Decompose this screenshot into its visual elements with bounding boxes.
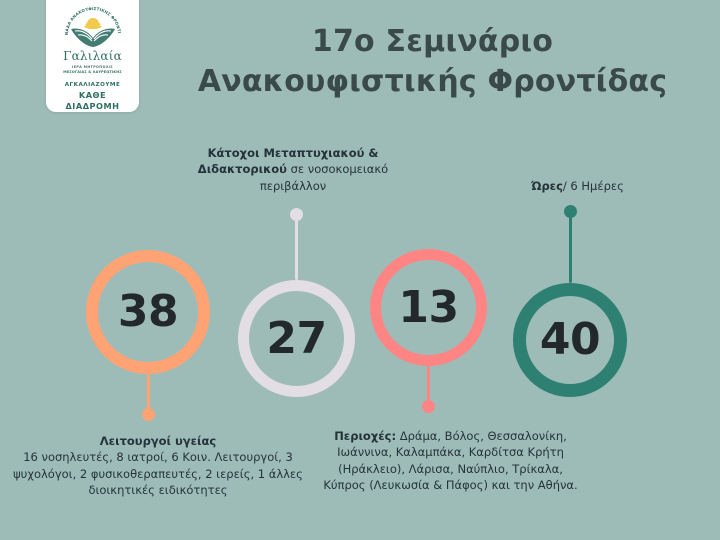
stat-value-regions: 13 [398, 286, 458, 330]
connector-regions [422, 366, 435, 416]
logo-emblem: ΜΟΝΑΔΑ ΑΝΑΚΟΥΦΙΣΤΙΚΗΣ ΦΡΟΝΤΙΔΑΣ [63, 1, 123, 48]
connector-knob [564, 205, 577, 218]
caption-regions: Περιοχές: Δράμα, Βόλος, Θεσσαλονίκη, Ιωά… [318, 428, 583, 493]
caption-masters: Κάτοχοι Μεταπτυχιακού & Διδακτορικού σε … [168, 145, 418, 194]
connector-knob [290, 208, 303, 221]
logo-slogan: ΑΓΚΑΛΙΑΖΟΥΜΕ ΚΑΘΕ ΔΙΑΔΡΟΜΗ [65, 82, 121, 112]
logo-slogan-line-3: ΔΙΑΔΡΟΜΗ [65, 101, 121, 112]
stat-ring-regions: 13 [370, 249, 487, 366]
caption-regions-bold: Περιοχές: [334, 429, 396, 443]
organization-logo: ΜΟΝΑΔΑ ΑΝΑΚΟΥΦΙΣΤΙΚΗΣ ΦΡΟΝΤΙΔΑΣ [46, 0, 139, 112]
infographic-canvas: ΜΟΝΑΔΑ ΑΝΑΚΟΥΦΙΣΤΙΚΗΣ ΦΡΟΝΤΙΔΑΣ [0, 0, 720, 540]
caption-staff-bold: Λειτουργοί υγείας [100, 434, 216, 448]
connector-stem [569, 215, 572, 283]
stat-value-staff: 38 [118, 290, 178, 334]
caption-hours-rest: / 6 Ημέρες [563, 179, 624, 193]
connector-masters [290, 208, 303, 283]
logo-slogan-line-1: ΑΓΚΑΛΙΑΖΟΥΜΕ [65, 82, 121, 90]
page-title: 17ο Σεμινάριο Ανακουφιστικής Φροντίδας [160, 22, 705, 102]
stat-ring-hours: 40 [513, 283, 627, 397]
connector-knob [142, 408, 155, 421]
hands-icon [70, 26, 116, 48]
caption-hours: Ώρες/ 6 Ημέρες [470, 178, 685, 194]
stat-ring-staff: 38 [86, 250, 210, 374]
connector-staff [142, 374, 155, 424]
stat-value-masters: 27 [266, 317, 326, 361]
connector-knob [422, 400, 435, 413]
caption-staff: Λειτουργοί υγείας 16 νοσηλευτές, 8 ιατρο… [8, 433, 308, 498]
stat-ring-masters: 27 [238, 280, 355, 397]
caption-hours-bold: Ώρες [531, 179, 563, 193]
page-title-line-2: Ανακουφιστικής Φροντίδας [160, 62, 705, 102]
connector-stem [295, 218, 298, 280]
stat-value-hours: 40 [540, 318, 600, 362]
connector-hours [564, 205, 577, 285]
logo-slogan-line-2: ΚΑΘΕ [65, 90, 121, 101]
caption-staff-rest: 16 νοσηλευτές, 8 ιατροί, 6 Κοιν. Λειτουρ… [13, 450, 303, 497]
page-title-line-1: 17ο Σεμινάριο [312, 24, 553, 59]
logo-subtitle-line-2: ΜΕΣΟΓΑΙΑΣ & ΛΑΥΡΕΩΤΙΚΗΣ [63, 70, 122, 75]
